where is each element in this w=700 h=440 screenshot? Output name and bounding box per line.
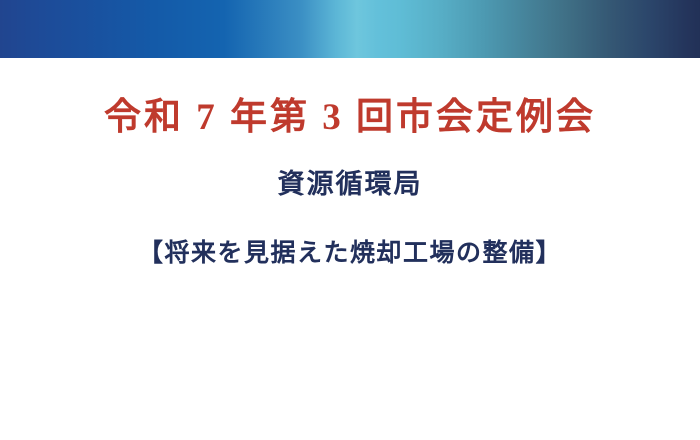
presentation-slide: 令和 7 年第 3 回市会定例会 資源循環局 【将来を見据えた焼却工場の整備】 [0,0,700,440]
page-title: 令和 7 年第 3 回市会定例会 [0,96,700,140]
theme-heading: 【将来を見据えた焼却工場の整備】 [0,239,700,269]
gradient-banner [0,0,700,58]
department-name: 資源循環局 [0,168,700,200]
slide-content: 令和 7 年第 3 回市会定例会 資源循環局 【将来を見据えた焼却工場の整備】 [0,58,700,440]
